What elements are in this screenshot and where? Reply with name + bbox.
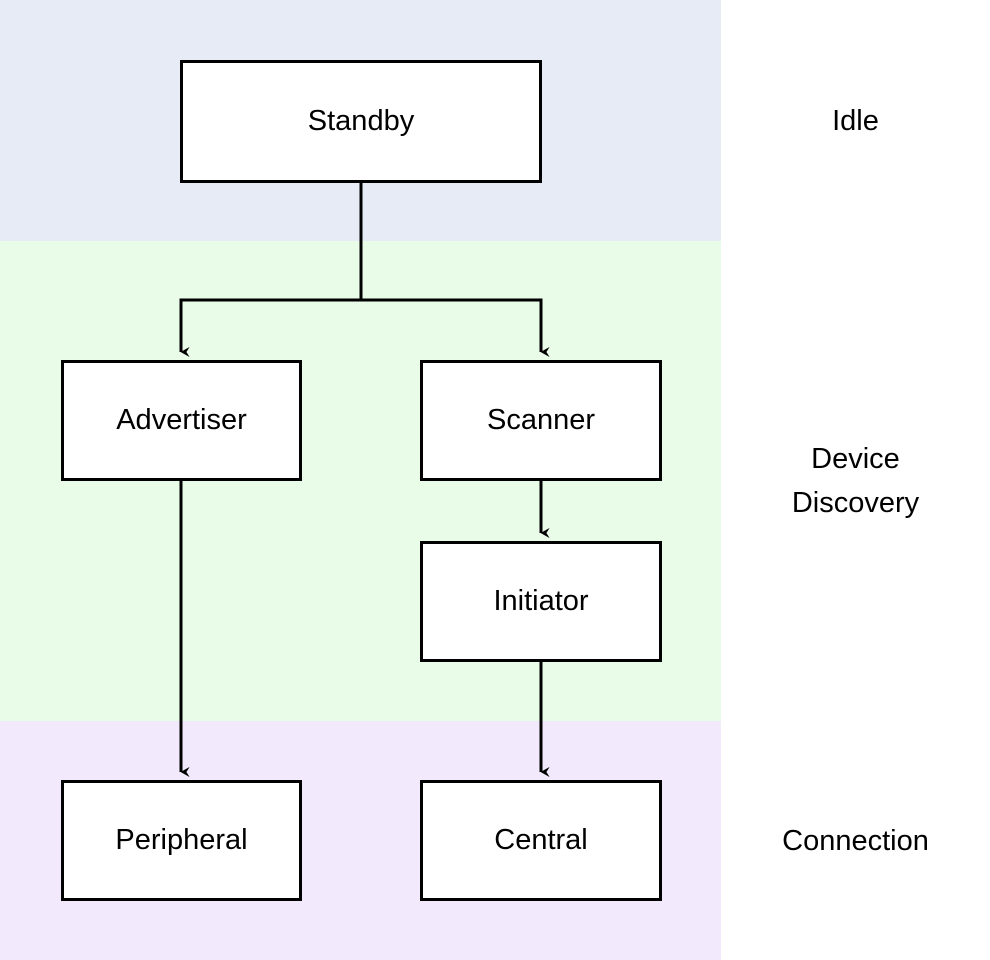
node-scanner[interactable]: Scanner: [420, 360, 662, 481]
node-initiator-label: Initiator: [493, 585, 588, 618]
node-peripheral-label: Peripheral: [115, 824, 247, 857]
node-scanner-label: Scanner: [487, 404, 595, 437]
node-initiator[interactable]: Initiator: [420, 541, 662, 662]
band-label-connection: Connection: [721, 819, 990, 863]
node-standby[interactable]: Standby: [180, 60, 542, 183]
node-central-label: Central: [494, 824, 588, 857]
diagram-canvas: Idle Device Discovery Connection Standby…: [0, 0, 990, 960]
node-advertiser-label: Advertiser: [116, 404, 247, 437]
band-label-device-discovery: Device Discovery: [721, 437, 990, 525]
node-standby-label: Standby: [308, 105, 414, 138]
node-central[interactable]: Central: [420, 780, 662, 901]
node-peripheral[interactable]: Peripheral: [61, 780, 302, 901]
node-advertiser[interactable]: Advertiser: [61, 360, 302, 481]
band-label-idle: Idle: [721, 99, 990, 143]
